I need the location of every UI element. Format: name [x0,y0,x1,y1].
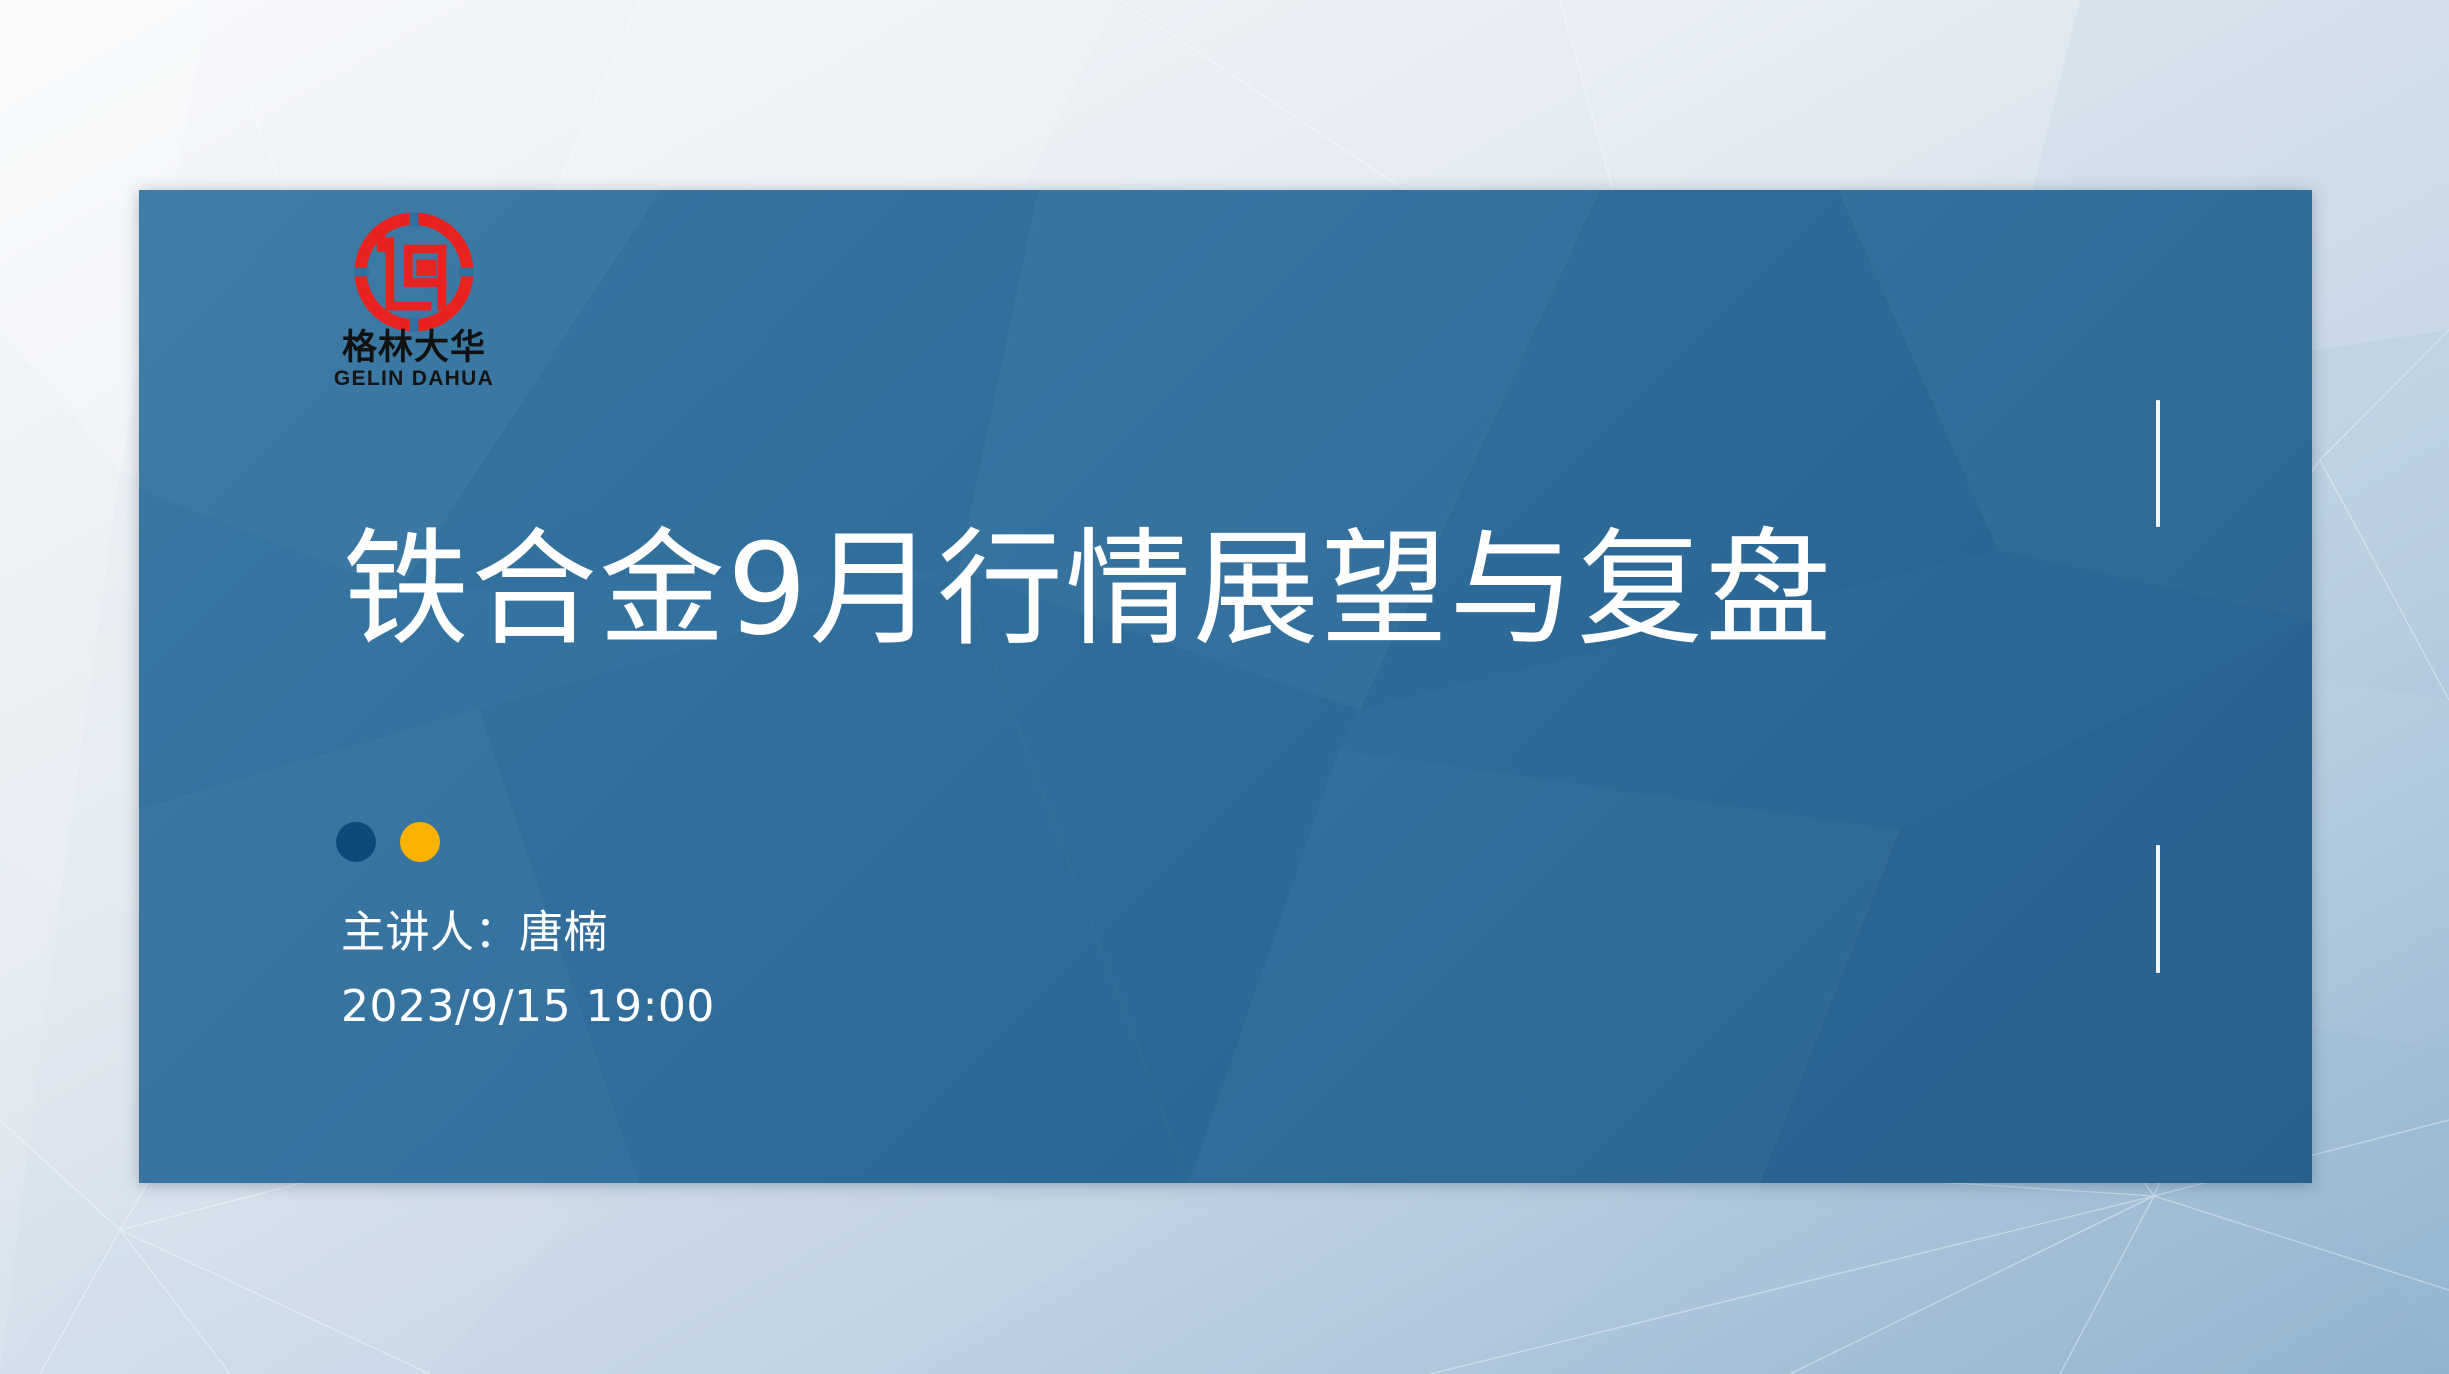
logo-company-name-en: GELIN DAHUA [314,367,514,390]
dot-amber-icon [400,822,440,862]
gelin-dahua-seal-icon [352,210,476,334]
logo-company-name-cn: 格林大华 [314,330,514,367]
accent-line-top-icon [2156,400,2160,527]
content-panel: 格林大华 GELIN DAHUA 铁合金9月行情展望与复盘 主讲人：唐楠 202… [139,190,2312,1183]
decorative-dots [336,822,440,862]
datetime-line: 2023/9/15 19:00 [341,975,1541,1039]
speaker-line: 主讲人：唐楠 [341,901,1541,965]
byline-block: 主讲人：唐楠 2023/9/15 19:00 [341,901,1541,1039]
company-logo: 格林大华 GELIN DAHUA [314,210,514,390]
accent-line-bottom-icon [2156,845,2160,973]
title-slide: 格林大华 GELIN DAHUA 铁合金9月行情展望与复盘 主讲人：唐楠 202… [0,0,2449,1374]
slide-title: 铁合金9月行情展望与复盘 [343,516,2163,665]
dot-navy-icon [336,822,376,862]
